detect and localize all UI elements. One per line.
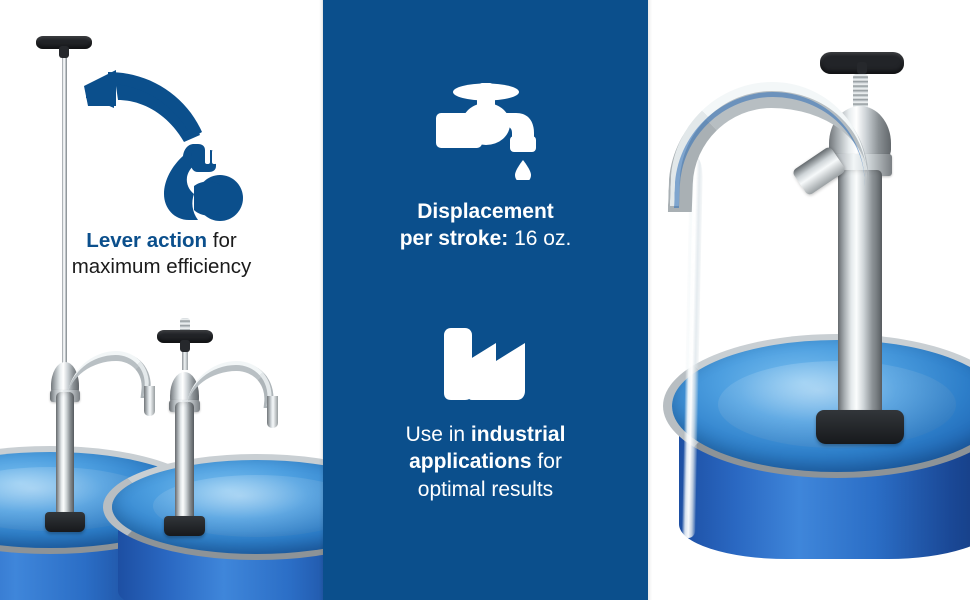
industrial-post: for [532, 450, 562, 473]
lever-action-panel: Lever action for maximum efficiency [0, 0, 323, 600]
flexed-bicep-icon [158, 140, 253, 225]
displacement-bold-line1: Displacement [417, 200, 554, 223]
pump-t-handle-front [157, 330, 213, 343]
displacement-value: 16 oz. [508, 227, 571, 250]
lever-action-caption: Lever action for maximum efficiency [0, 228, 323, 280]
spec-block-displacement: Displacement per stroke: 16 oz. [323, 80, 648, 253]
drum-main [672, 340, 970, 472]
drum-front [112, 460, 323, 554]
caption-line2: maximum efficiency [72, 255, 252, 278]
industrial-pre: Use in [406, 423, 471, 446]
industrial-line3: optimal results [418, 478, 553, 501]
pump-main [838, 150, 882, 440]
pump-t-handle-main [820, 52, 904, 74]
pump-rod-extended [62, 52, 67, 382]
pump-in-use-panel [648, 0, 970, 600]
curved-arrow-icon [82, 68, 207, 143]
displacement-bold-line2: per stroke: [400, 227, 509, 250]
spec-block-industrial: Use in industrial applications for optim… [323, 325, 648, 503]
caption-bold: Lever action [86, 229, 207, 252]
factory-icon [441, 325, 531, 403]
industrial-caption: Use in industrial applications for optim… [323, 421, 648, 503]
faucet-icon [432, 80, 540, 180]
pump-front [175, 402, 194, 524]
displacement-caption: Displacement per stroke: 16 oz. [323, 198, 648, 253]
pump-t-handle-rear [36, 36, 92, 49]
product-feature-banner: Lever action for maximum efficiency [0, 0, 970, 600]
caption-rest: for [207, 229, 237, 252]
industrial-bold-line2: applications [409, 450, 532, 473]
pump-rear [56, 392, 74, 520]
specs-panel: Displacement per stroke: 16 oz. Use in i… [323, 0, 648, 600]
industrial-bold-line1: industrial [471, 423, 566, 446]
